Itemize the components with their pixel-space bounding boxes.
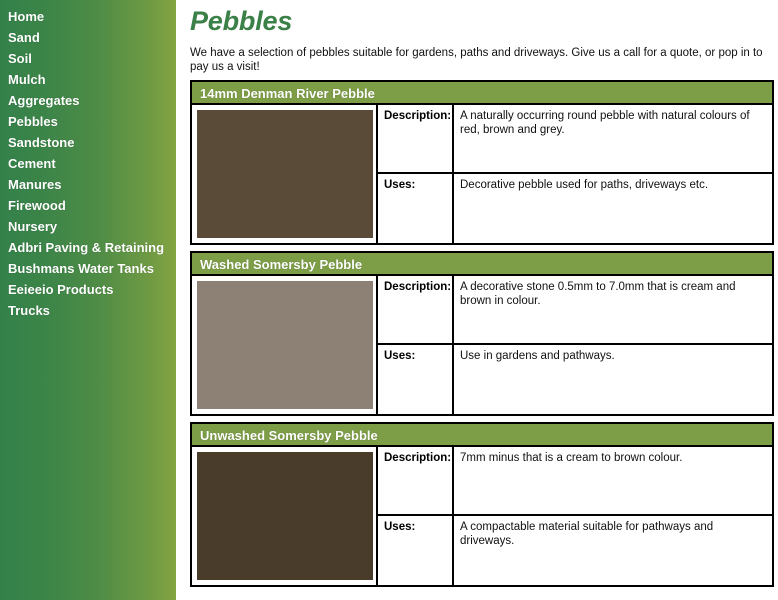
product-title: Unwashed Somersby Pebble (192, 424, 772, 447)
sidebar-item-mulch[interactable]: Mulch (6, 69, 176, 90)
product-title: Washed Somersby Pebble (192, 253, 772, 276)
product-detail-rows: Description: A naturally occurring round… (378, 105, 772, 243)
intro-paragraph: We have a selection of pebbles suitable … (190, 46, 766, 74)
product-card-unwashed-somersby: Unwashed Somersby Pebble Description: 7m… (190, 422, 774, 587)
denman-river-pebble-photo (196, 109, 374, 239)
sidebar-item-sand[interactable]: Sand (6, 27, 176, 48)
table-row-description: Description: 7mm minus that is a cream t… (378, 447, 772, 516)
table-row-description: Description: A decorative stone 0.5mm to… (378, 276, 772, 345)
sidebar-navigation: Home Sand Soil Mulch Aggregates Pebbles … (0, 0, 176, 600)
uses-value: A compactable material suitable for path… (454, 516, 772, 585)
unwashed-somersby-pebble-photo (196, 451, 374, 581)
table-row-uses: Uses: Decorative pebble used for paths, … (378, 174, 772, 243)
product-image-cell (192, 276, 378, 414)
sidebar-item-nursery[interactable]: Nursery (6, 216, 176, 237)
page-root: Home Sand Soil Mulch Aggregates Pebbles … (0, 0, 778, 600)
washed-somersby-pebble-photo (196, 280, 374, 410)
main-content: Pebbles We have a selection of pebbles s… (186, 0, 778, 600)
table-row-uses: Uses: A compactable material suitable fo… (378, 516, 772, 585)
sidebar-item-trucks[interactable]: Trucks (6, 300, 176, 321)
description-value: A decorative stone 0.5mm to 7.0mm that i… (454, 276, 772, 343)
sidebar-item-bushmans-water-tanks[interactable]: Bushmans Water Tanks (6, 258, 176, 279)
sidebar-item-pebbles[interactable]: Pebbles (6, 111, 176, 132)
product-detail-rows: Description: A decorative stone 0.5mm to… (378, 276, 772, 414)
uses-value: Use in gardens and pathways. (454, 345, 772, 414)
sidebar-item-adbri-paving-retaining[interactable]: Adbri Paving & Retaining (6, 237, 176, 258)
description-label: Description: (378, 105, 454, 172)
sidebar-item-sandstone[interactable]: Sandstone (6, 132, 176, 153)
product-body: Description: A decorative stone 0.5mm to… (192, 276, 772, 414)
uses-label: Uses: (378, 345, 454, 414)
sidebar-item-firewood[interactable]: Firewood (6, 195, 176, 216)
table-row-description: Description: A naturally occurring round… (378, 105, 772, 174)
description-label: Description: (378, 276, 454, 343)
product-detail-rows: Description: 7mm minus that is a cream t… (378, 447, 772, 585)
product-card-washed-somersby: Washed Somersby Pebble Description: A de… (190, 251, 774, 416)
sidebar-item-manures[interactable]: Manures (6, 174, 176, 195)
page-title: Pebbles (190, 6, 778, 37)
uses-label: Uses: (378, 516, 454, 585)
sidebar-item-soil[interactable]: Soil (6, 48, 176, 69)
uses-label: Uses: (378, 174, 454, 243)
description-label: Description: (378, 447, 454, 514)
sidebar-item-eeieeio-products[interactable]: Eeieeio Products (6, 279, 176, 300)
sidebar-item-cement[interactable]: Cement (6, 153, 176, 174)
sidebar-item-aggregates[interactable]: Aggregates (6, 90, 176, 111)
product-body: Description: 7mm minus that is a cream t… (192, 447, 772, 585)
description-value: A naturally occurring round pebble with … (454, 105, 772, 172)
product-card-denman-river: 14mm Denman River Pebble Description: A … (190, 80, 774, 245)
product-image-cell (192, 447, 378, 585)
product-image-cell (192, 105, 378, 243)
uses-value: Decorative pebble used for paths, drivew… (454, 174, 772, 243)
product-body: Description: A naturally occurring round… (192, 105, 772, 243)
table-row-uses: Uses: Use in gardens and pathways. (378, 345, 772, 414)
product-title: 14mm Denman River Pebble (192, 82, 772, 105)
description-value: 7mm minus that is a cream to brown colou… (454, 447, 772, 514)
sidebar-item-home[interactable]: Home (6, 6, 176, 27)
